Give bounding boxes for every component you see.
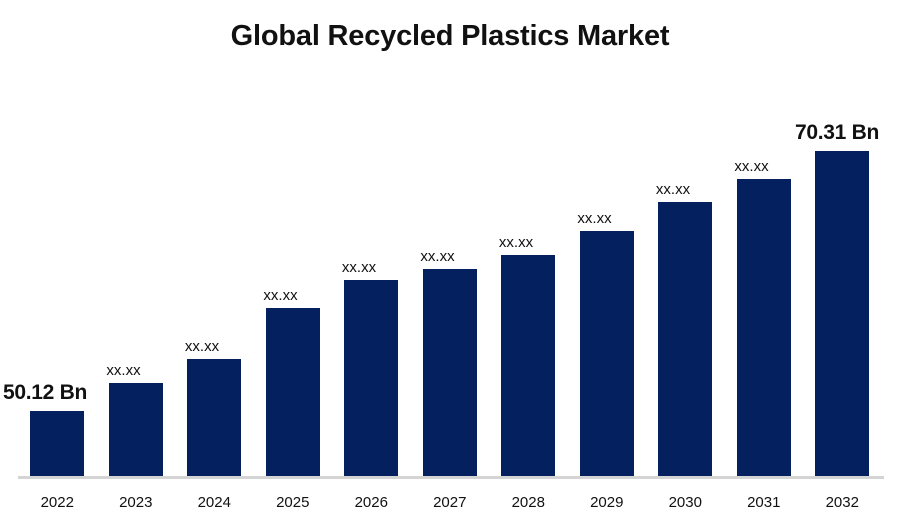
bar[interactable] — [737, 179, 791, 478]
x-axis-tick-label: 2022 — [18, 494, 97, 511]
x-axis-tick-label: 2026 — [332, 494, 411, 511]
bar-group: xx.xx — [489, 38, 568, 478]
x-axis-tick-label: 2028 — [489, 494, 568, 511]
bar[interactable] — [187, 359, 241, 478]
x-axis-tick-label: 2023 — [97, 494, 176, 511]
x-axis-tick-label: 2025 — [254, 494, 333, 511]
bar-group: xx.xx — [725, 38, 804, 478]
bar[interactable] — [266, 308, 320, 478]
bar-value-label: xx.xx — [318, 259, 400, 276]
bar-value-label: 70.31 Bn — [773, 121, 900, 145]
x-axis-tick-label: 2032 — [803, 494, 882, 511]
bar-value-label: xx.xx — [397, 248, 479, 265]
bar[interactable] — [580, 231, 634, 478]
x-axis-tick-label: 2030 — [646, 494, 725, 511]
bar-group: xx.xx — [568, 38, 647, 478]
x-axis-tick-label: 2027 — [411, 494, 490, 511]
bar[interactable] — [501, 255, 555, 478]
x-axis-tick-label: 2024 — [175, 494, 254, 511]
bar-group: xx.xx — [175, 38, 254, 478]
plot-area: 50.12 Bnxx.xxxx.xxxx.xxxx.xxxx.xxxx.xxxx… — [0, 0, 900, 525]
bar-group: xx.xx — [97, 38, 176, 478]
bar-group: xx.xx — [646, 38, 725, 478]
bar[interactable] — [815, 151, 869, 478]
x-axis-line — [18, 476, 884, 479]
bar-value-label: xx.xx — [554, 210, 636, 227]
bar[interactable] — [423, 269, 477, 478]
bar-value-label: xx.xx — [240, 287, 322, 304]
x-axis-tick-label: 2029 — [568, 494, 647, 511]
bar-group: 50.12 Bn — [18, 38, 97, 478]
bar-value-label: xx.xx — [83, 362, 165, 379]
x-axis-tick-label: 2031 — [725, 494, 804, 511]
bar[interactable] — [30, 411, 84, 478]
bar-group: xx.xx — [411, 38, 490, 478]
bar-group: xx.xx — [254, 38, 333, 478]
bar-value-label: xx.xx — [632, 181, 714, 198]
bar-group: 70.31 Bn — [803, 38, 882, 478]
bar[interactable] — [344, 280, 398, 478]
bar[interactable] — [109, 383, 163, 478]
chart-container: Global Recycled Plastics Market 50.12 Bn… — [0, 0, 900, 525]
bar-value-label: xx.xx — [475, 234, 557, 251]
bar-value-label: xx.xx — [161, 338, 243, 355]
bar-value-label: xx.xx — [711, 158, 793, 175]
bar[interactable] — [658, 202, 712, 478]
